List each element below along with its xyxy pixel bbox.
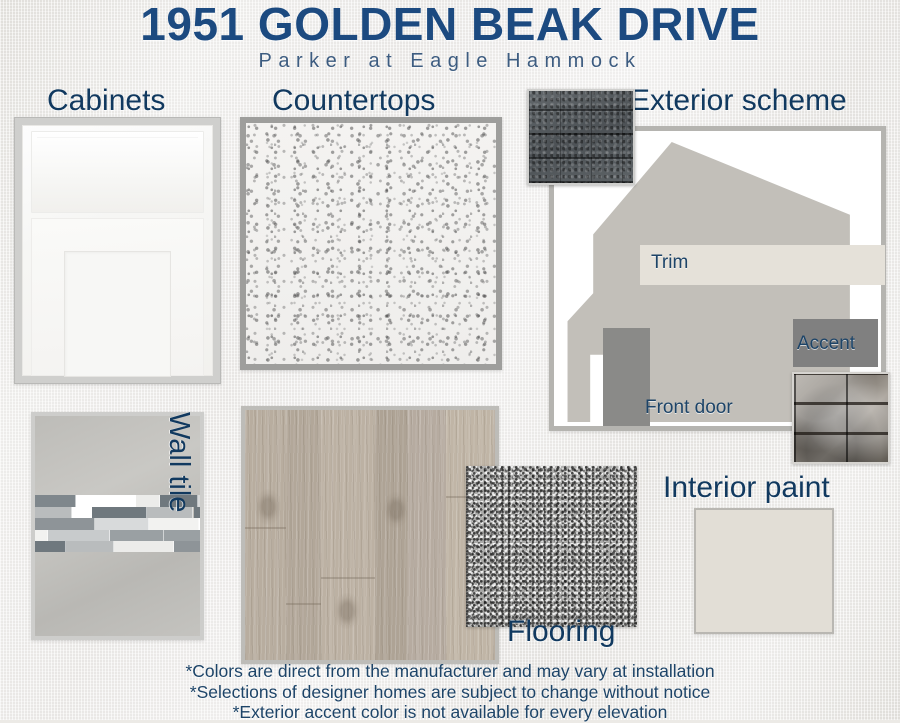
floor-plank xyxy=(245,410,287,660)
cabinet-drawer-front xyxy=(31,131,204,213)
countertop-swatch xyxy=(240,117,502,370)
callout-label-trim: Trim xyxy=(651,246,688,280)
mosaic-tile xyxy=(72,507,92,518)
section-label-countertops: Countertops xyxy=(272,84,435,118)
mosaic-tile xyxy=(199,518,200,529)
lvp-plank-texture xyxy=(245,410,495,660)
mosaic-tile xyxy=(95,518,149,529)
section-label-flooring: Flooring xyxy=(507,615,615,649)
footnote-line: *Exterior accent color is not available … xyxy=(0,702,900,723)
mosaic-row xyxy=(35,530,200,541)
page-subtitle: Parker at Eagle Hammock xyxy=(0,50,900,73)
mosaic-row xyxy=(35,518,200,529)
cabinet-door-face xyxy=(22,125,213,376)
stone-veneer-swatch xyxy=(792,372,890,464)
page-title: 1951 GOLDEN BEAK DRIVE xyxy=(0,0,900,50)
section-label-exterior-scheme: Exterior scheme xyxy=(630,84,847,118)
mosaic-tile xyxy=(149,518,199,529)
callout-label-accent: Accent xyxy=(797,327,855,361)
mosaic-tile xyxy=(76,495,136,506)
roof-shingle-swatch xyxy=(527,89,635,185)
mosaic-tile xyxy=(66,541,114,552)
footnotes: *Colors are direct from the manufacturer… xyxy=(0,661,900,723)
lvp-plank-swatch xyxy=(241,406,499,664)
plank-knot xyxy=(383,492,409,528)
plank-seam xyxy=(245,527,286,529)
cabinet-swatch xyxy=(14,117,221,384)
plank-knot xyxy=(334,593,360,629)
carpet-swatch xyxy=(466,466,637,627)
section-label-interior-paint: Interior paint xyxy=(663,471,830,505)
plank-seam xyxy=(286,603,321,605)
exterior-front-door-swatch xyxy=(603,328,650,426)
plank-knot xyxy=(255,489,281,525)
mosaic-tile xyxy=(35,495,76,506)
section-label-cabinets: Cabinets xyxy=(47,84,165,118)
footnote-line: *Colors are direct from the manufacturer… xyxy=(0,661,900,682)
design-selection-board: 1951 GOLDEN BEAK DRIVE Parker at Eagle H… xyxy=(0,0,900,720)
mosaic-tile xyxy=(114,541,174,552)
floor-plank xyxy=(375,410,409,660)
footnote-line: *Selections of designer homes are subjec… xyxy=(0,682,900,703)
floor-plank xyxy=(286,410,322,660)
mosaic-tile xyxy=(174,541,200,552)
callout-label-front-door: Front door xyxy=(645,391,733,425)
mosaic-tile xyxy=(35,530,48,541)
mosaic-tile xyxy=(164,530,200,541)
cabinet-panel-door xyxy=(31,218,204,376)
mosaic-tile xyxy=(136,495,160,506)
plank-seam xyxy=(321,577,375,579)
mosaic-tile xyxy=(35,541,66,552)
mosaic-tile xyxy=(35,518,95,529)
interior-paint-swatch xyxy=(694,508,834,634)
mosaic-tile xyxy=(198,495,200,506)
cabinet-recessed-panel xyxy=(64,251,171,377)
mosaic-tile xyxy=(35,507,72,518)
section-label-wall-tile: Wall tile xyxy=(162,412,196,512)
mosaic-tile xyxy=(110,530,164,541)
floor-plank xyxy=(408,410,448,660)
mosaic-tile xyxy=(92,507,148,518)
mosaic-row xyxy=(35,541,200,552)
countertop-quartz-texture xyxy=(246,123,496,364)
mosaic-tile xyxy=(48,530,110,541)
